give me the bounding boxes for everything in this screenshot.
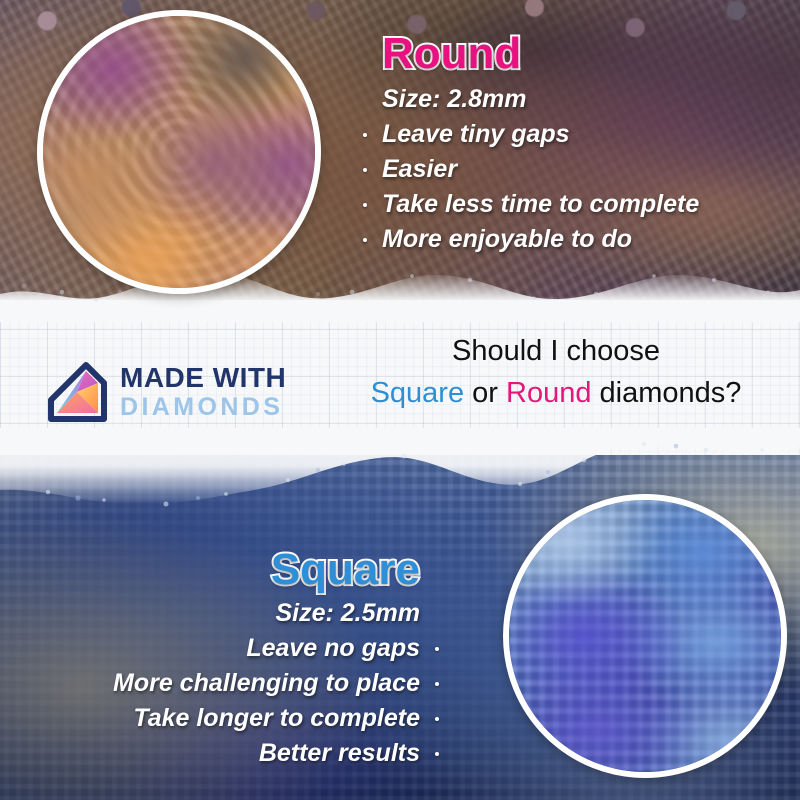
question-keyword-round: Round [506,377,591,409]
round-magnifier-photo [37,10,321,294]
brand-line-diamonds: DIAMONDS [120,395,286,420]
round-title: Round [382,32,699,76]
brand-line-made-with: MADE WITH [120,364,286,392]
round-info-block: Round Size: 2.8mm Leave tiny gaps Easier… [360,32,699,257]
question-connector: or [464,377,506,409]
question-keyword-square: Square [371,377,465,409]
brand-logo[interactable]: MADE WITH DIAMONDS [46,362,286,422]
square-bullet-list: Size: 2.5mm Leave no gaps More challengi… [113,596,442,771]
square-bullet-4: Better results [113,736,442,771]
brand-wordmark: MADE WITH DIAMONDS [120,364,286,420]
question-line-2: Square or Round diamonds? [336,372,776,414]
round-size-line: Size: 2.8mm [360,82,699,117]
square-magnifier-photo [503,494,787,778]
infographic-canvas: Round Size: 2.8mm Leave tiny gaps Easier… [0,0,800,800]
round-drill-magnifier [37,10,321,294]
square-bullet-3: Take longer to complete [113,701,442,736]
round-bullet-2: Easier [360,152,699,187]
diamond-gem-logo-icon [46,362,108,422]
square-drill-magnifier [503,494,787,778]
round-bullet-1: Leave tiny gaps [360,117,699,152]
square-bullet-1: Leave no gaps [113,631,442,666]
round-bullet-list: Size: 2.8mm Leave tiny gaps Easier Take … [360,82,699,257]
square-bullet-2: More challenging to place [113,666,442,701]
question-tail: diamonds? [591,377,741,409]
round-bullet-3: Take less time to complete [360,187,699,222]
round-bullet-4: More enjoyable to do [360,222,699,257]
headline-question: Should I choose Square or Round diamonds… [336,330,776,414]
square-title: Square [113,548,420,592]
square-info-block: Square Size: 2.5mm Leave no gaps More ch… [113,548,442,771]
square-size-line: Size: 2.5mm [113,596,442,631]
question-line-1: Should I choose [336,330,776,372]
